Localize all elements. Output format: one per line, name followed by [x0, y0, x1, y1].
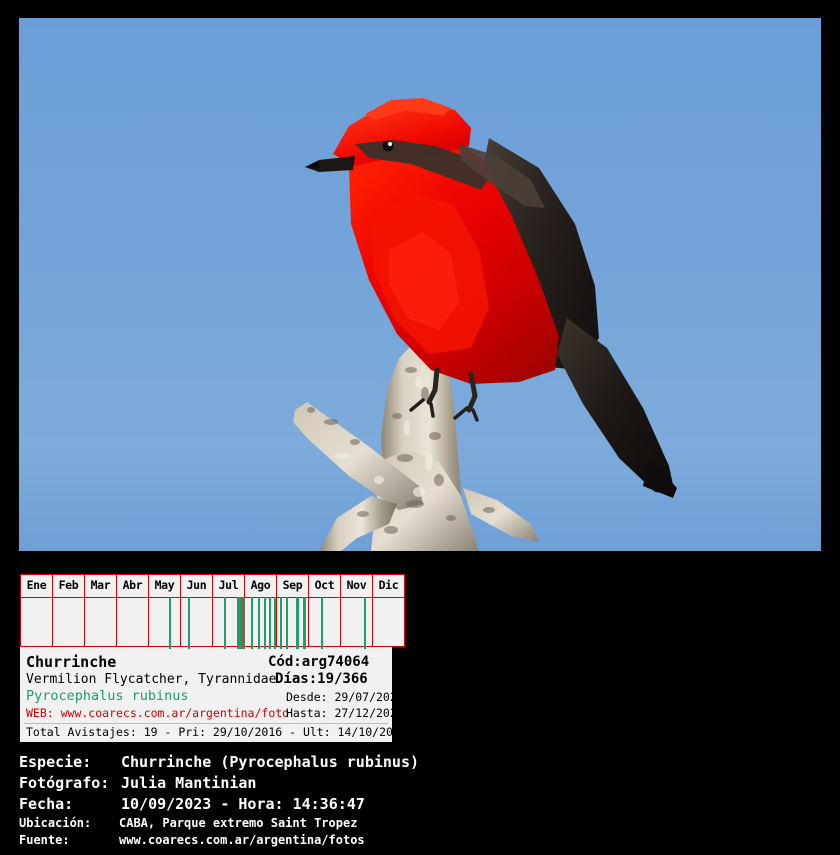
metadata-value: www.coarecs.com.ar/argentina/fotos [119, 832, 365, 849]
date-to: Hasta: 27/12/2025 [286, 706, 404, 721]
species-common-name: Churrinche [26, 654, 116, 671]
metadata-label: Fuente: [19, 832, 70, 849]
month-cell [181, 598, 213, 647]
days-count: Días:19/366 [275, 671, 368, 688]
species-english-name: Vermilion Flycatcher, Tyrannidae [26, 671, 276, 688]
month-cell [53, 598, 85, 647]
metadata-label: Especie: [19, 752, 91, 773]
month-header-mar: Mar [85, 575, 117, 598]
date-from: Desde: 29/07/2022 [286, 690, 404, 705]
metadata-row: Especie:Churrinche (Pyrocephalus rubinus… [19, 752, 819, 773]
calendar-table: Ene Feb Mar Abr May Jun Jul Ago Sep Oct … [20, 574, 405, 647]
sightings-calendar: Ene Feb Mar Abr May Jun Jul Ago Sep Oct … [20, 574, 392, 652]
month-header-may: May [149, 575, 181, 598]
month-header-nov: Nov [341, 575, 373, 598]
month-cell [277, 598, 309, 647]
total-sightings: Total Avistajes: 19 - Pri: 29/10/2016 - … [26, 725, 407, 740]
month-header-feb: Feb [53, 575, 85, 598]
calendar-header-row: Ene Feb Mar Abr May Jun Jul Ago Sep Oct … [21, 575, 405, 598]
metadata-value: 10/09/2023 - Hora: 14:36:47 [121, 794, 365, 815]
month-header-ago: Ago [245, 575, 277, 598]
species-info-card: Ene Feb Mar Abr May Jun Jul Ago Sep Oct … [20, 574, 392, 742]
month-cell [245, 598, 277, 647]
metadata-row: Ubicación:CABA, Parque extremo Saint Tro… [19, 815, 819, 832]
divider [24, 723, 388, 724]
month-cell [341, 598, 373, 647]
metadata-row: Fuente:www.coarecs.com.ar/argentina/foto… [19, 832, 819, 849]
species-scientific-name: Pyrocephalus rubinus [26, 688, 189, 705]
month-cell [213, 598, 245, 647]
metadata-label: Fotógrafo: [19, 773, 109, 794]
month-cell [149, 598, 181, 647]
month-header-abr: Abr [117, 575, 149, 598]
metadata-value: Julia Mantinian [121, 773, 256, 794]
month-cell [85, 598, 117, 647]
month-header-dic: Dic [373, 575, 405, 598]
month-header-ene: Ene [21, 575, 53, 598]
card-info-block: Churrinche Cód:arg74064 Vermilion Flycat… [20, 652, 392, 741]
month-cell [21, 598, 53, 647]
species-code: Cód:arg74064 [268, 654, 369, 671]
vermilion-flycatcher-graphic [19, 18, 821, 551]
month-header-oct: Oct [309, 575, 341, 598]
month-header-jul: Jul [213, 575, 245, 598]
metadata-row: Fecha:10/09/2023 - Hora: 14:36:47 [19, 794, 819, 815]
month-header-sep: Sep [277, 575, 309, 598]
month-cell [309, 598, 341, 647]
metadata-label: Fecha: [19, 794, 73, 815]
metadata-footer: Especie:Churrinche (Pyrocephalus rubinus… [19, 752, 819, 849]
card-row-web: WEB: www.coarecs.com.ar/argentina/foto H… [24, 705, 388, 722]
card-row-scientific: Pyrocephalus rubinus Desde: 29/07/2022 [24, 688, 388, 705]
bird-photo [19, 18, 821, 551]
month-header-jun: Jun [181, 575, 213, 598]
metadata-label: Ubicación: [19, 815, 91, 832]
calendar-bar-row [21, 598, 405, 647]
card-row-total: Total Avistajes: 19 - Pri: 29/10/2016 - … [24, 722, 388, 741]
card-row-name: Churrinche Cód:arg74064 [24, 654, 388, 671]
metadata-row: Fotógrafo:Julia Mantinian [19, 773, 819, 794]
month-cell [373, 598, 405, 647]
card-row-english: Vermilion Flycatcher, Tyrannidae Días:19… [24, 671, 388, 688]
month-cell [117, 598, 149, 647]
web-link[interactable]: WEB: www.coarecs.com.ar/argentina/foto [26, 705, 289, 722]
metadata-value: CABA, Parque extremo Saint Tropez [119, 815, 357, 832]
metadata-value: Churrinche (Pyrocephalus rubinus) [121, 752, 419, 773]
